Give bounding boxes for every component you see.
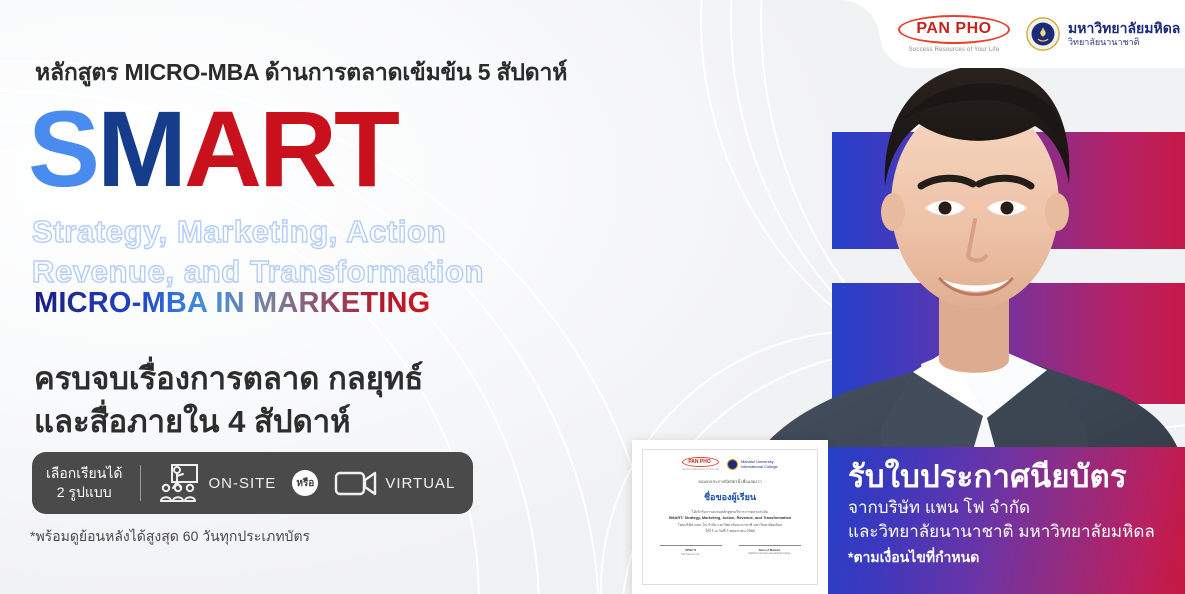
signature-left-role: Pan Pho Co.,Ltd. <box>660 553 722 556</box>
classroom-icon <box>159 463 201 503</box>
mahidol-college-name: วิทยาลัยนานาชาติ <box>1068 37 1180 48</box>
program-title: MICRO-MBA IN MARKETING <box>34 287 430 320</box>
thai-headline-line-2: และสื่อภายใน 4 สัปดาห์ <box>34 401 423 444</box>
certificate-panpho-logo: PAN PHO Success Resources of Your Life <box>682 457 719 471</box>
callout-title: รับใบประกาศนียบัตร <box>848 459 1169 496</box>
promo-banner: PAN PHO Success Resources of Your Life ม… <box>0 0 1185 594</box>
panpho-logo: PAN PHO Success Resources of Your Life <box>898 15 1010 53</box>
signature-line <box>739 545 801 546</box>
hero-content: หลักสูตร MICRO-MBA ด้านการตลาดเข้มข้น 5 … <box>0 0 740 594</box>
thai-headline: ครบจบเรื่องการตลาด กลยุทธ์ และสื่อภายใน … <box>34 358 423 444</box>
mode-pill-label-line-1: เลือกเรียนได้ <box>46 464 122 483</box>
onsite-label: ON-SITE <box>208 475 276 492</box>
logo-panel-corner <box>840 0 880 40</box>
smart-logotype: SMART <box>28 95 397 203</box>
smart-letter-s: S <box>28 88 97 209</box>
learning-mode-pill: เลือกเรียนได้ 2 รูปแบบ ON-SITE หรือ <box>32 452 473 514</box>
mahidol-logo: มหาวิทยาลัยมหิดล วิทยาลัยนานาชาติ <box>1026 17 1180 51</box>
certificate-mahidol-line-2: International College <box>741 464 778 469</box>
signature-line <box>660 545 722 546</box>
certificate-panpho-name: PAN PHO <box>682 457 719 467</box>
thai-headline-line-1: ครบจบเรื่องการตลาด กลยุทธ์ <box>34 358 423 401</box>
panpho-tagline: Success Resources of Your Life <box>898 47 1010 53</box>
certificate-mahidol-logo: Mahidol University International College <box>727 459 778 470</box>
video-camera-icon <box>334 468 378 498</box>
panpho-name: PAN PHO <box>898 15 1010 44</box>
onsite-option[interactable]: ON-SITE <box>159 463 276 503</box>
virtual-option[interactable]: VIRTUAL <box>334 468 455 498</box>
acronym-expansion: Strategy, Marketing, Action Revenue, and… <box>32 212 484 291</box>
callout-line-1: จากบริษัท แพน โฟ จำกัด <box>848 496 1169 520</box>
course-eyebrow: หลักสูตร MICRO-MBA ด้านการตลาดเข้มข้น 5 … <box>35 55 567 91</box>
certificate-body-line-2: SMART: Strategy, Marketing, Action, Reve… <box>651 515 809 522</box>
callout-line-2: และวิทยาลัยนานาชาติ มหาวิทยาลัยมหิดล <box>848 520 1169 544</box>
certificate-signature-left: กรรมการ Pan Pho Co.,Ltd. <box>660 545 722 556</box>
smart-letters-art: ART <box>184 88 397 209</box>
mahidol-seal-icon <box>1026 17 1060 51</box>
certificate-logos: PAN PHO Success Resources of Your Life M… <box>651 457 809 471</box>
replay-footnote: *พร้อมดูย้อนหลังได้สูงสุด 60 วันทุกประเภ… <box>30 526 310 548</box>
certificate-seal-icon <box>727 459 738 470</box>
mode-divider <box>140 465 141 501</box>
virtual-label: VIRTUAL <box>385 475 455 492</box>
certificate-callout: รับใบประกาศนียบัตร จากบริษัท แพน โฟ จำกั… <box>828 447 1185 594</box>
smart-letter-m: M <box>97 88 184 209</box>
certificate-body: ได้เข้ารับการอบรมหลักสูตรบริหารการตลาดระ… <box>651 509 809 535</box>
certificate-preview: PAN PHO Success Resources of Your Life M… <box>632 440 828 594</box>
certificate-inner-border: PAN PHO Success Resources of Your Life M… <box>642 449 818 585</box>
logo-panel: PAN PHO Success Resources of Your Life ม… <box>880 0 1185 68</box>
or-badge: หรือ <box>292 470 318 496</box>
acronym-line-2: Revenue, and Transformation <box>32 252 484 292</box>
acronym-line-1: Strategy, Marketing, Action <box>32 212 484 252</box>
callout-conditions-note: *ตามเงื่อนไขที่กำหนด <box>848 547 1169 569</box>
certificate-body-line-4: ให้ไว้ ณ วันที่ 3 พฤษภาคม 2568 <box>651 528 809 534</box>
certificate-name-placeholder: ชื่อของผู้เรียน <box>651 490 809 504</box>
mode-pill-label: เลือกเรียนได้ 2 รูปแบบ <box>46 464 122 502</box>
certificate-preamble: ขอมอบประกาศนียบัตรนี้ เพื่อแสดงว่า <box>651 478 809 485</box>
mode-pill-label-line-2: 2 รูปแบบ <box>46 483 122 502</box>
certificate-signature-right: Dean of Mahidol Mahidol University Inter… <box>739 545 801 556</box>
certificate-panpho-tagline: Success Resources of Your Life <box>682 468 719 471</box>
mahidol-university-name: มหาวิทยาลัยมหิดล <box>1068 20 1180 36</box>
certificate-signatures: กรรมการ Pan Pho Co.,Ltd. Dean of Mahidol… <box>651 545 809 556</box>
signature-right-role: Mahidol University International College <box>739 552 801 555</box>
